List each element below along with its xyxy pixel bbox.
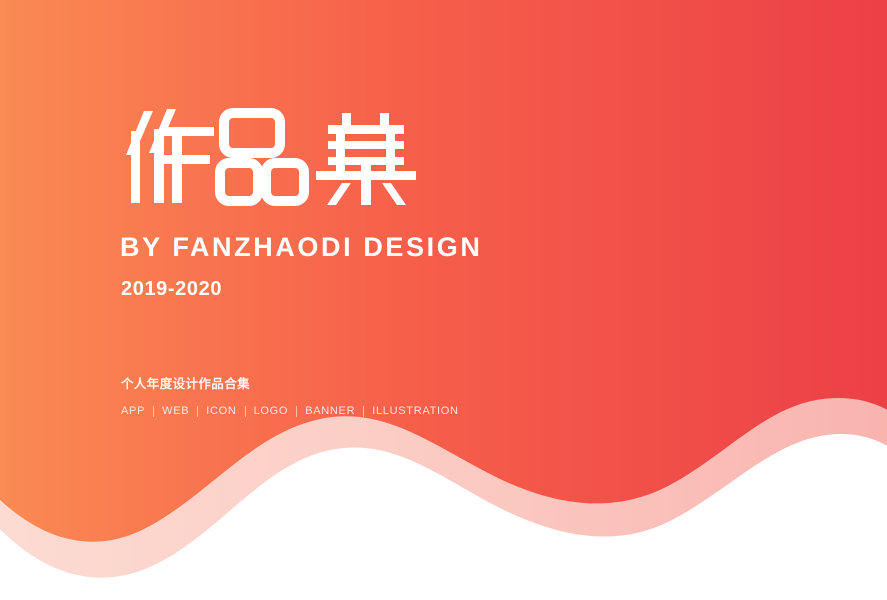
poster-canvas: BY FANZHAODI DESIGN 2019-2020 个人年度设计作品合集… [0, 0, 887, 600]
category-separator [197, 406, 198, 417]
category-separator [153, 406, 154, 417]
page-title [120, 107, 420, 207]
category-item-web: WEB [162, 406, 189, 417]
category-list: APP WEB ICON LOGO BANNER ILLUSTRATION [121, 406, 459, 417]
category-item-banner: BANNER [305, 406, 355, 417]
category-item-app: APP [121, 406, 145, 417]
poster-content: BY FANZHAODI DESIGN 2019-2020 个人年度设计作品合集… [0, 0, 887, 600]
category-separator [363, 406, 364, 417]
title-char-pin [220, 113, 304, 201]
category-item-icon: ICON [206, 406, 236, 417]
category-separator [245, 406, 246, 417]
tagline-chinese: 个人年度设计作品合集 [121, 378, 250, 391]
title-char-ji [316, 113, 416, 205]
category-separator [296, 406, 297, 417]
category-item-logo: LOGO [254, 406, 289, 417]
year-range-label: 2019-2020 [121, 279, 222, 299]
category-item-illustration: ILLUSTRATION [372, 406, 458, 417]
subtitle-author: BY FANZHAODI DESIGN [120, 234, 482, 261]
title-glyphs [120, 107, 420, 207]
title-char-zuo [126, 109, 214, 203]
